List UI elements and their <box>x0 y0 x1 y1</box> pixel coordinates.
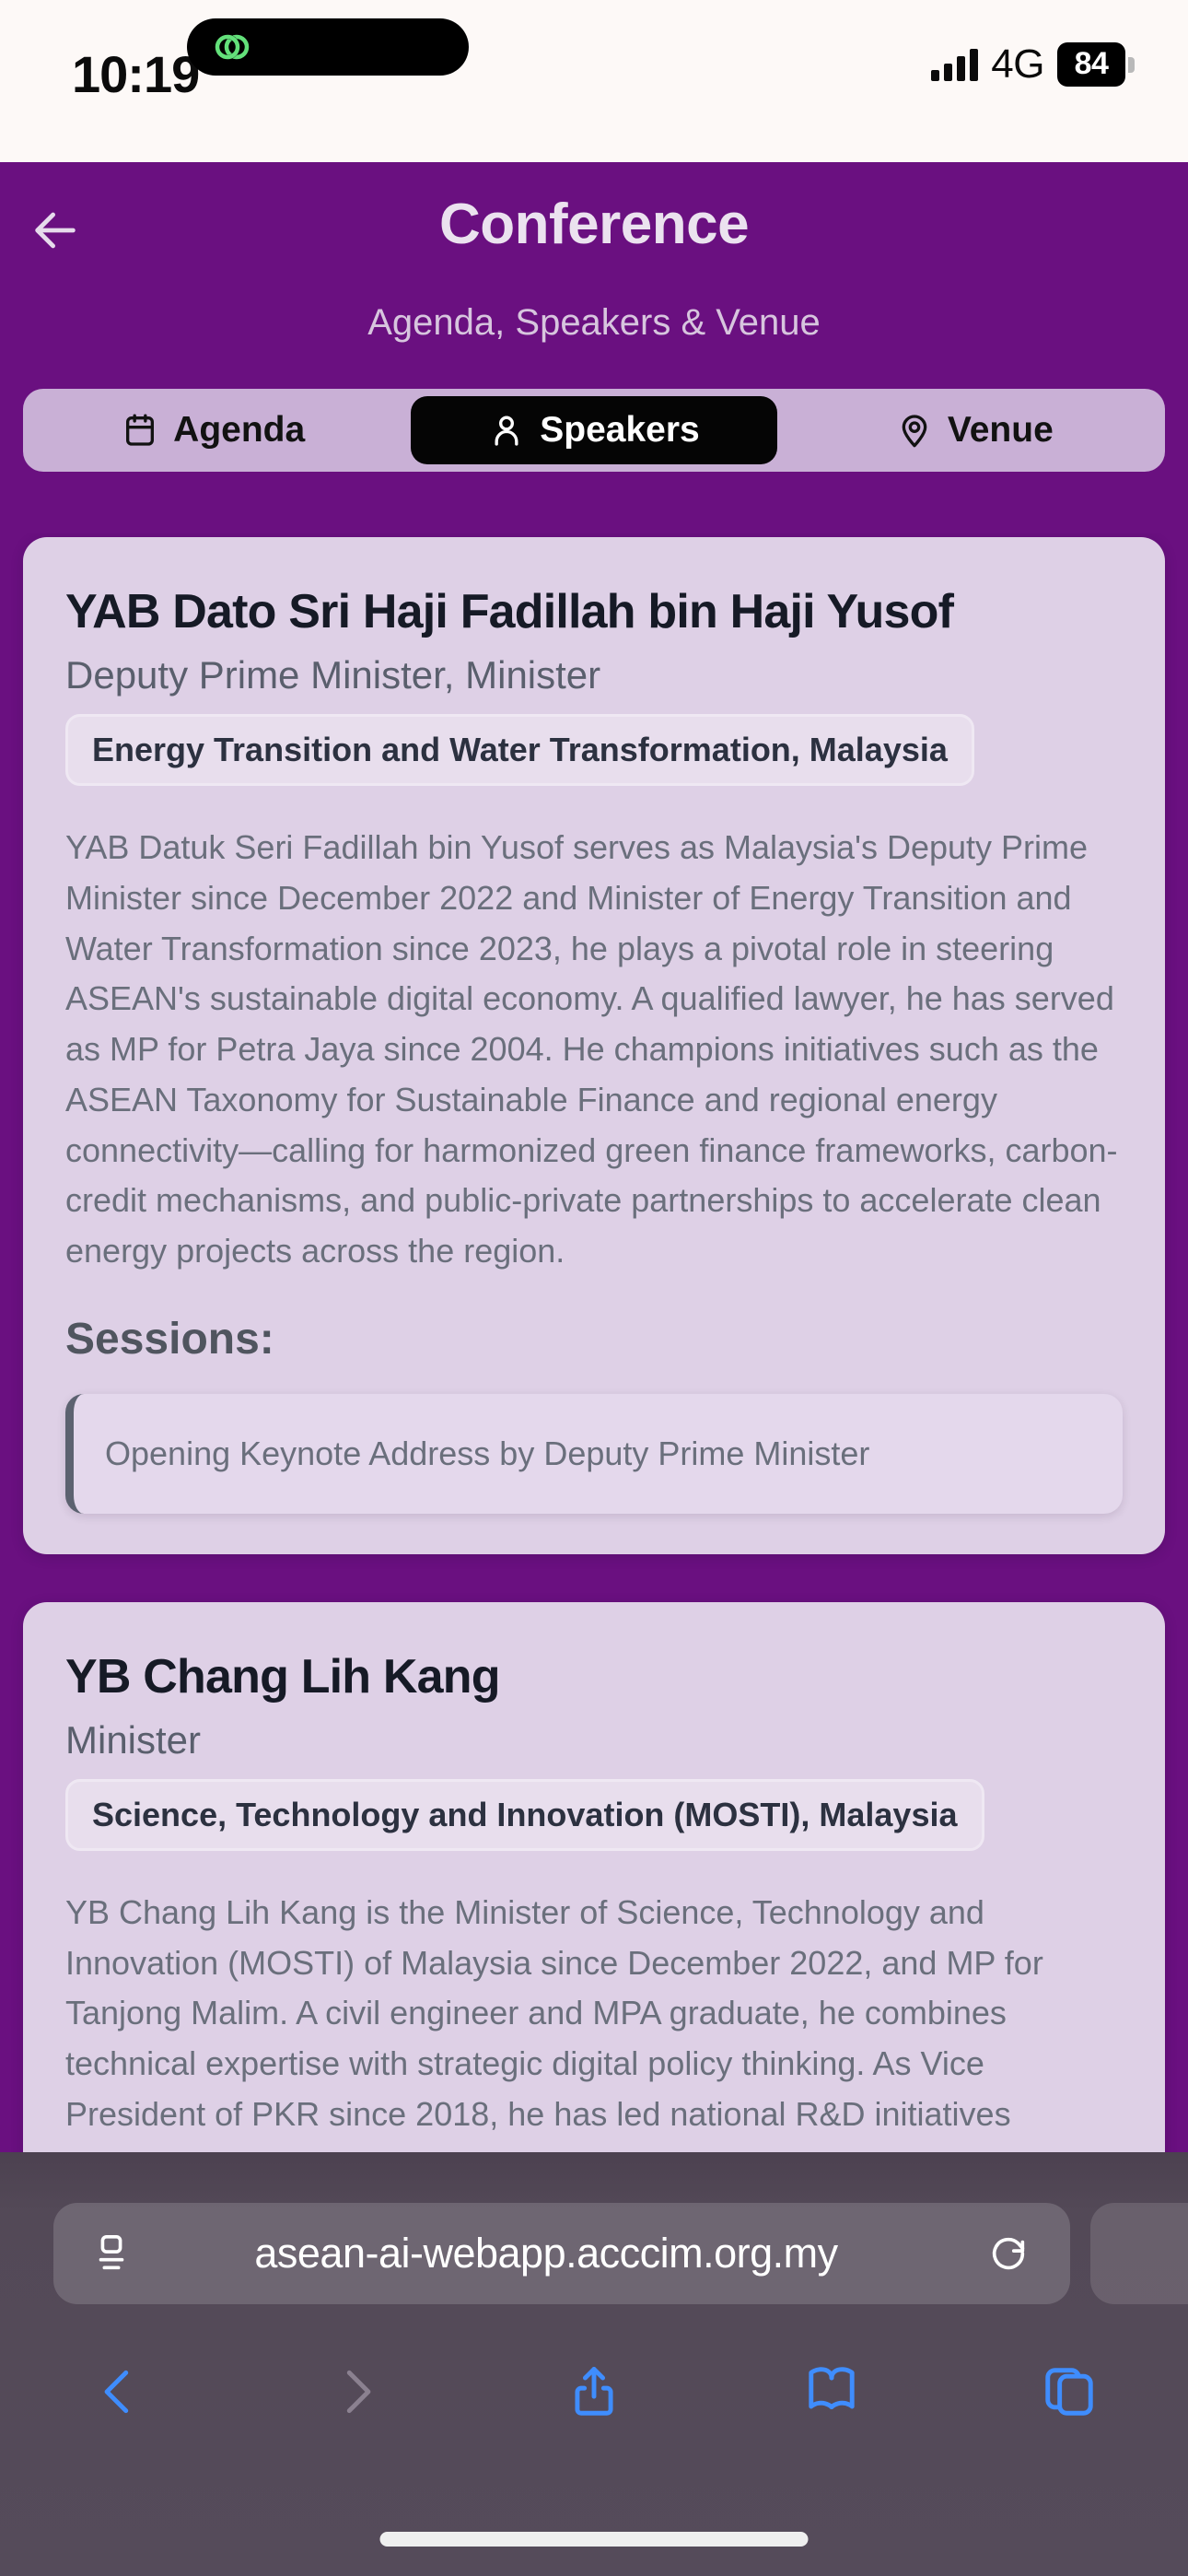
speaker-card[interactable]: YB Chang Lih Kang Minister Science, Tech… <box>23 1602 1165 2152</box>
sessions-heading: Sessions: <box>65 1314 1123 1364</box>
share-icon <box>565 2363 623 2420</box>
book-icon <box>803 2363 860 2420</box>
status-bar-indicators: 4G 84 <box>931 39 1135 90</box>
reload-icon[interactable] <box>984 2232 1033 2275</box>
browser-toolbar <box>0 2336 1188 2447</box>
url-text[interactable]: asean-ai-webapp.acccim.org.my <box>109 2230 984 2277</box>
page-subtitle: Agenda, Speakers & Venue <box>0 302 1188 344</box>
speaker-organisation-badge: Energy Transition and Water Transformati… <box>65 714 974 786</box>
page-title: Conference <box>0 192 1188 257</box>
speaker-role: Deputy Prime Minister, Minister <box>65 653 1123 697</box>
battery-cap <box>1128 57 1135 73</box>
forward-button[interactable] <box>238 2363 475 2420</box>
map-pin-icon <box>896 412 933 449</box>
back-button[interactable] <box>0 2363 238 2420</box>
speaker-card[interactable]: YAB Dato Sri Haji Fadillah bin Haji Yuso… <box>23 537 1165 1554</box>
network-type-label: 4G <box>991 41 1044 88</box>
speaker-bio: YAB Datuk Seri Fadillah bin Yusof serves… <box>65 823 1123 1276</box>
speakers-list[interactable]: YAB Dato Sri Haji Fadillah bin Haji Yuso… <box>0 533 1188 2152</box>
tabs-icon <box>1041 2363 1098 2420</box>
battery-icon: 84 <box>1057 42 1135 87</box>
person-icon <box>488 412 525 449</box>
speaker-name: YB Chang Lih Kang <box>65 1650 1123 1704</box>
session-item[interactable]: Opening Keynote Address by Deputy Prime … <box>65 1394 1123 1514</box>
speaker-bio: YB Chang Lih Kang is the Minister of Sci… <box>65 1888 1123 2152</box>
bookmarks-button[interactable] <box>713 2363 950 2420</box>
calendar-icon <box>122 412 158 449</box>
tabs-button[interactable] <box>950 2363 1188 2420</box>
battery-percent-label: 84 <box>1057 42 1125 87</box>
speaker-name: YAB Dato Sri Haji Fadillah bin Haji Yuso… <box>65 585 1123 638</box>
adjacent-tab-preview[interactable] <box>1090 2203 1188 2304</box>
browser-chrome: asean-ai-webapp.acccim.org.my <box>0 2152 1188 2576</box>
home-indicator <box>380 2532 809 2547</box>
tab-bar: Agenda Speakers Venue <box>23 389 1165 472</box>
tab-speakers-label: Speakers <box>540 410 699 451</box>
share-button[interactable] <box>475 2363 713 2420</box>
url-bar[interactable]: asean-ai-webapp.acccim.org.my <box>53 2203 1070 2304</box>
speaker-role: Minister <box>65 1718 1123 1762</box>
tab-agenda[interactable]: Agenda <box>30 396 396 464</box>
tab-venue[interactable]: Venue <box>792 396 1158 464</box>
chevron-right-icon <box>328 2363 385 2420</box>
signal-bars-icon <box>931 48 978 81</box>
tab-agenda-label: Agenda <box>173 410 305 451</box>
app-header: Conference Agenda, Speakers & Venue Agen… <box>0 162 1188 533</box>
speaker-organisation-badge: Science, Technology and Innovation (MOST… <box>65 1779 984 1851</box>
phone-screen: 10:19 4G 84 Conference Agenda, <box>0 0 1188 2576</box>
chevron-left-icon <box>90 2363 147 2420</box>
link-loop-icon <box>213 28 251 66</box>
browser-url-row: asean-ai-webapp.acccim.org.my <box>0 2203 1188 2304</box>
tab-venue-label: Venue <box>948 410 1054 451</box>
tab-speakers[interactable]: Speakers <box>411 396 776 464</box>
dynamic-island <box>187 18 469 76</box>
status-bar: 10:19 4G 84 <box>0 0 1188 162</box>
